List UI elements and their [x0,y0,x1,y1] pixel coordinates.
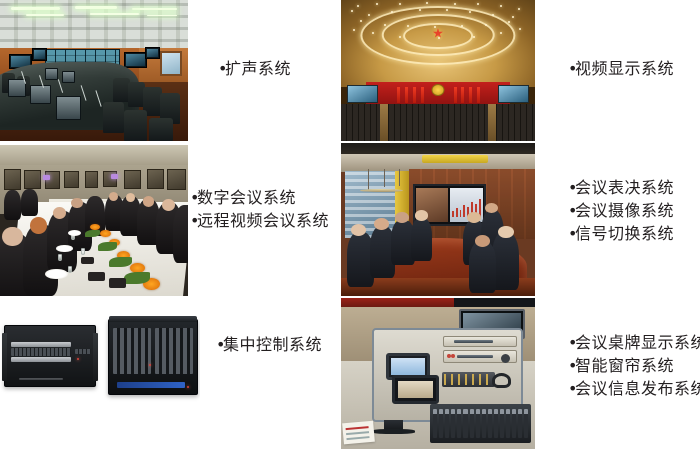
documents [342,421,375,445]
bullet-label: 智能窗帘系统 [575,354,674,377]
bullet-dot: • [190,186,197,209]
headphones [492,373,511,388]
bullet-item: • 远程视频会议系统 [190,209,329,232]
bullet-label: 视频显示系统 [575,57,674,80]
av-console-photo [341,298,535,449]
bullet-dot: • [568,222,575,245]
bullet-dot: • [568,57,575,80]
bullet-dot: • [568,354,575,377]
caption-block-row3-left: • 集中控制系统 [216,333,322,356]
caption-block-row2-right: • 会议表决系统 • 会议摄像系统 • 信号切换系统 [568,176,674,245]
bullet-label: 数字会议系统 [197,186,296,209]
audio-mixer [430,404,531,443]
caption-block-row1-left: • 扩声系统 [218,57,291,80]
bullet-item: • 会议摄像系统 [568,199,674,222]
mixer-faders[interactable] [433,409,528,438]
bullet-item: • 会议桌牌显示系统 [568,331,700,354]
rack-panel [443,336,517,348]
microphones [0,0,188,141]
amp-panel [442,372,495,386]
banquet-table-photo [0,145,188,296]
side-display-right [498,85,529,103]
bullet-label: 远程视频会议系统 [197,209,329,232]
bullet-label: 扩声系统 [225,57,291,80]
attendees [341,143,535,296]
matrix-switcher-rear [108,319,198,395]
bullet-dot: • [568,199,575,222]
touch-panel [392,375,439,404]
bullet-item: • 会议表决系统 [568,176,674,199]
caption-block-row2-left: • 数字会议系统 • 远程视频会议系统 [190,186,329,232]
bullet-item: • 会议信息发布系统 [568,377,700,400]
bullet-item: • 集中控制系统 [216,333,322,356]
bullet-label: 会议信息发布系统 [575,377,700,400]
control-room-photo [0,0,188,141]
audience-seating [341,104,535,141]
table-flowers [0,145,188,296]
bullet-dot: • [568,377,575,400]
matrix-switcher-front [4,325,96,387]
aisle [380,104,388,141]
bullet-dot: • [568,331,575,354]
crt-bar-graphic [393,366,424,374]
bullet-item: • 信号切换系统 [568,222,674,245]
bullet-label: 会议摄像系统 [575,199,674,222]
aisle [488,104,496,141]
videoconference-room-photo [341,143,535,296]
matrix-switcher-photo [0,311,200,403]
vcr-panel [443,350,517,363]
auditorium-photo: ★ [341,0,535,141]
slide-canvas: • 扩声系统 ★ [0,0,700,449]
bullet-dot: • [568,176,575,199]
bullet-label: 会议表决系统 [575,176,674,199]
bullet-label: 会议桌牌显示系统 [575,331,700,354]
caption-block-row1-right: • 视频显示系统 [568,57,674,80]
bullet-label: 信号切换系统 [575,222,674,245]
monitor-base [372,429,415,434]
bullet-label: 集中控制系统 [223,333,322,356]
bullet-item: • 智能窗帘系统 [568,354,700,377]
caption-block-row3-right: • 会议桌牌显示系统 • 智能窗帘系统 • 会议信息发布系统 [568,331,700,400]
touch-panel-buttons[interactable] [401,384,430,395]
bullet-dot: • [218,57,225,80]
bullet-item: • 数字会议系统 [190,186,329,209]
bullet-dot: • [190,209,197,232]
side-display-left [347,85,378,103]
bullet-item: • 扩声系统 [218,57,291,80]
bullet-item: • 视频显示系统 [568,57,674,80]
upper-dark-band [454,298,535,307]
bullet-dot: • [216,333,223,356]
